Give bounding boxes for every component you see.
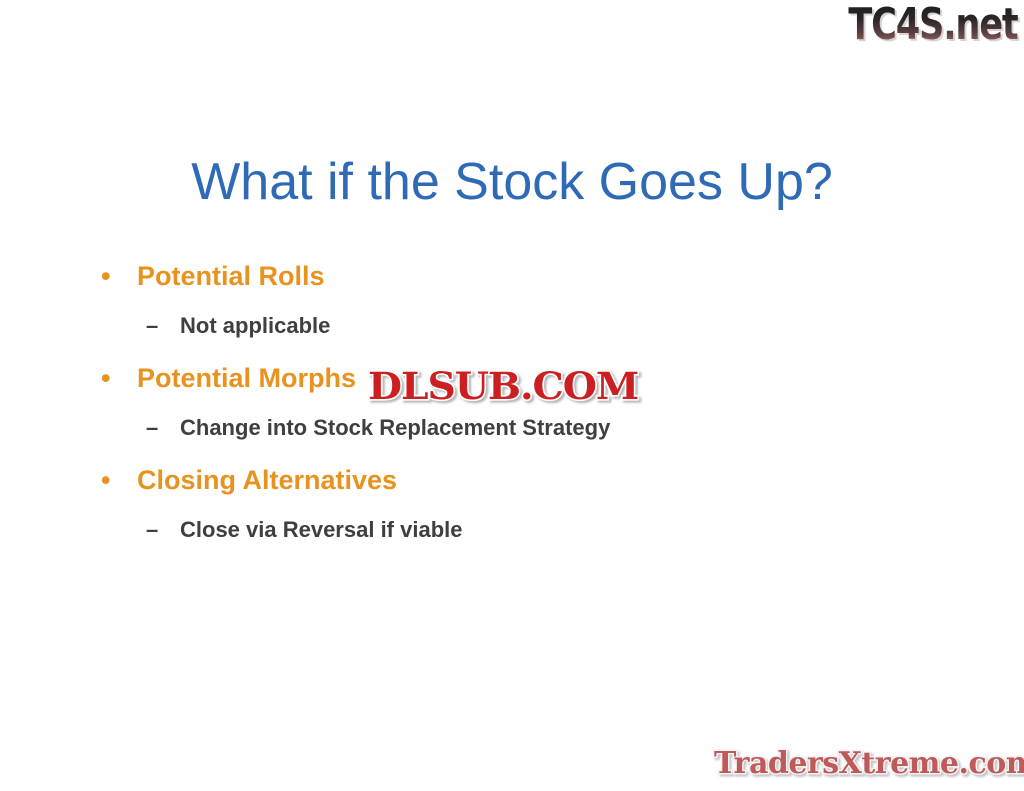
bullet-level1-potential-rolls: • Potential Rolls [96,252,956,300]
bullet-level2-close-via-reversal: – Close via Reversal if viable [96,508,956,552]
bullet-dash-icon: – [146,406,158,450]
bullet-level2-label: Close via Reversal if viable [180,517,463,542]
bullet-dot-icon: • [101,354,110,402]
bullet-dash-icon: – [146,508,158,552]
page-title: What if the Stock Goes Up? [0,151,1024,213]
bullet-level1-label: Potential Rolls [137,261,325,291]
bullet-dot-icon: • [101,252,110,300]
bullet-level2-label: Change into Stock Replacement Strategy [180,415,610,440]
bullet-group: • Closing Alternatives – Close via Rever… [96,456,956,552]
bullet-level1-label: Potential Morphs [137,363,356,393]
bullet-level2-not-applicable: – Not applicable [96,304,956,348]
bullet-level1-closing-alternatives: • Closing Alternatives [96,456,956,504]
watermark-dlsub: DLSUB.COM [368,366,638,406]
bullet-level1-label: Closing Alternatives [137,465,397,495]
brand-logo-tc4s: TC4S.net [849,2,1018,48]
bullet-level2-stock-replacement: – Change into Stock Replacement Strategy [96,406,956,450]
bullet-group: • Potential Rolls – Not applicable [96,252,956,348]
bullet-level2-label: Not applicable [180,313,330,338]
bullet-dot-icon: • [101,456,110,504]
footer-logo-tradersxtreme: TradersXtreme.com [714,746,1024,782]
bullet-dash-icon: – [146,304,158,348]
slide-canvas: TC4S.net TC4S.net What if the Stock Goes… [0,0,1024,791]
